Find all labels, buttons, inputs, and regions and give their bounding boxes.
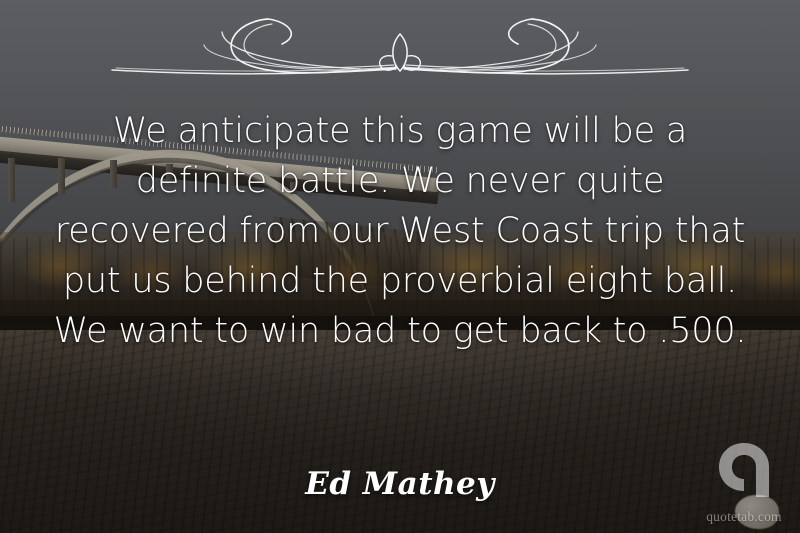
quotetab-logo-icon <box>713 439 775 501</box>
card-content: We anticipate this game will be a defini… <box>0 0 800 533</box>
flourish-divider-icon <box>100 6 700 90</box>
quote-author: Ed Mathey <box>0 466 800 502</box>
quote-text: We anticipate this game will be a defini… <box>48 106 752 356</box>
quote-card: We anticipate this game will be a defini… <box>0 0 800 533</box>
watermark[interactable]: quotetab.com <box>696 437 792 527</box>
watermark-site-label: quotetab.com <box>696 509 792 525</box>
